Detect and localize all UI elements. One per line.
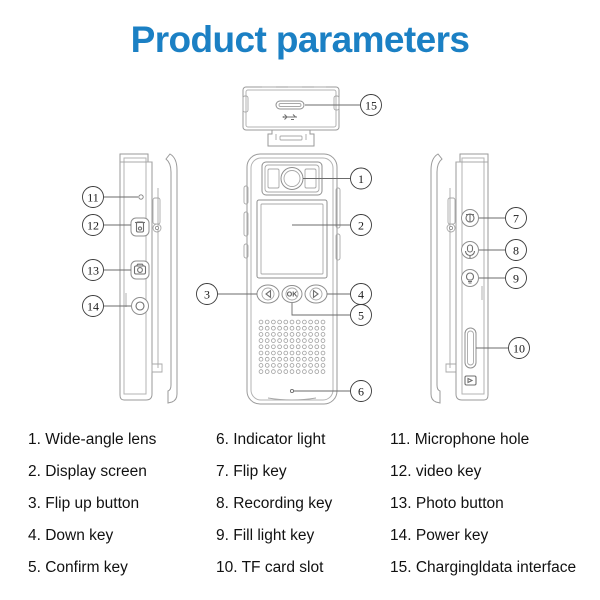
speaker-hole (272, 345, 276, 349)
photo-button[interactable] (131, 261, 149, 279)
speaker-hole (278, 357, 282, 361)
legend-item: 15. Chargingldata interface (390, 552, 600, 584)
speaker-hole (272, 339, 276, 343)
speaker-hole (321, 351, 325, 355)
speaker-hole (290, 357, 294, 361)
confirm-key[interactable]: OK (282, 286, 302, 303)
speaker-hole (259, 370, 263, 374)
belt-clip-right (431, 154, 456, 403)
flip-key[interactable] (462, 210, 479, 227)
video-key[interactable] (131, 218, 149, 236)
down-key[interactable] (305, 285, 327, 303)
speaker-hole (259, 326, 263, 330)
legend-item: 14. Power key (390, 520, 600, 552)
speaker-hole (321, 357, 325, 361)
svg-text:6: 6 (358, 384, 364, 398)
speaker-hole (278, 333, 282, 337)
legend-column-1: 1. Wide-angle lens 2. Display screen 3. … (28, 424, 218, 584)
speaker-hole (303, 351, 307, 355)
speaker-hole (284, 370, 288, 374)
speaker-hole (315, 357, 319, 361)
legend-item: 4. Down key (28, 520, 218, 552)
recording-key[interactable] (462, 242, 479, 259)
belt-clip-left (152, 154, 177, 403)
speaker-hole (259, 364, 263, 368)
fill-light-key[interactable] (462, 270, 479, 287)
svg-text:13: 13 (87, 263, 99, 277)
speaker-hole (272, 357, 276, 361)
speaker-grille (259, 320, 325, 373)
speaker-hole (278, 326, 282, 330)
power-key[interactable] (132, 298, 149, 315)
legend-item: 6. Indicator light (216, 424, 391, 456)
speaker-hole (265, 351, 269, 355)
speaker-hole (259, 320, 263, 324)
speaker-hole (309, 320, 313, 324)
svg-text:15: 15 (365, 98, 377, 112)
speaker-hole (290, 345, 294, 349)
speaker-hole (284, 345, 288, 349)
speaker-hole (309, 345, 313, 349)
display-screen (257, 200, 327, 278)
svg-text:2: 2 (358, 218, 364, 232)
speaker-hole (321, 364, 325, 368)
speaker-hole (284, 339, 288, 343)
speaker-hole (315, 364, 319, 368)
legend-item: 3. Flip up button (28, 488, 218, 520)
speaker-hole (290, 351, 294, 355)
speaker-hole (309, 333, 313, 337)
legend-item: 10. TF card slot (216, 552, 391, 584)
speaker-hole (296, 351, 300, 355)
front-view: OK (244, 154, 340, 404)
svg-text:9: 9 (513, 271, 519, 285)
speaker-hole (309, 364, 313, 368)
svg-text:12: 12 (87, 218, 99, 232)
speaker-hole (265, 320, 269, 324)
speaker-hole (259, 345, 263, 349)
legend-column-3: 11. Microphone hole 12. video key 13. Ph… (390, 424, 600, 584)
speaker-hole (265, 357, 269, 361)
speaker-hole (284, 351, 288, 355)
legend-item: 9. Fill light key (216, 520, 391, 552)
svg-text:3: 3 (204, 287, 210, 301)
speaker-hole (278, 364, 282, 368)
speaker-hole (315, 345, 319, 349)
legend-column-2: 6. Indicator light 7. Flip key 8. Record… (216, 424, 391, 584)
svg-text:OK: OK (287, 292, 298, 299)
speaker-hole (303, 357, 307, 361)
speaker-hole (315, 370, 319, 374)
speaker-hole (303, 320, 307, 324)
indicator-light (290, 389, 293, 392)
svg-text:10: 10 (513, 341, 525, 355)
speaker-hole (315, 351, 319, 355)
speaker-hole (303, 370, 307, 374)
flip-up-button[interactable] (257, 285, 279, 303)
left-side-view (120, 154, 177, 403)
speaker-hole (278, 320, 282, 324)
speaker-hole (290, 326, 294, 330)
speaker-hole (265, 339, 269, 343)
speaker-hole (265, 370, 269, 374)
speaker-hole (315, 333, 319, 337)
speaker-hole (296, 326, 300, 330)
speaker-hole (278, 370, 282, 374)
speaker-hole (265, 345, 269, 349)
speaker-hole (265, 364, 269, 368)
speaker-hole (315, 339, 319, 343)
legend: 1. Wide-angle lens 2. Display screen 3. … (0, 424, 600, 600)
speaker-hole (284, 364, 288, 368)
speaker-hole (321, 326, 325, 330)
speaker-hole (272, 326, 276, 330)
speaker-hole (278, 351, 282, 355)
page-title: Product parameters (0, 18, 600, 62)
speaker-hole (303, 339, 307, 343)
speaker-hole (303, 333, 307, 337)
speaker-hole (265, 326, 269, 330)
speaker-hole (296, 333, 300, 337)
speaker-hole (259, 357, 263, 361)
speaker-hole (321, 345, 325, 349)
legend-item: 8. Recording key (216, 488, 391, 520)
legend-item: 2. Display screen (28, 456, 218, 488)
speaker-hole (309, 370, 313, 374)
speaker-hole (259, 339, 263, 343)
tf-card-slot[interactable] (465, 328, 476, 368)
speaker-hole (321, 333, 325, 337)
svg-text:5: 5 (358, 308, 364, 322)
speaker-hole (321, 320, 325, 324)
speaker-hole (309, 326, 313, 330)
speaker-hole (278, 345, 282, 349)
speaker-hole (296, 345, 300, 349)
speaker-hole (303, 364, 307, 368)
speaker-hole (296, 357, 300, 361)
speaker-hole (272, 320, 276, 324)
speaker-hole (272, 364, 276, 368)
legend-item: 7. Flip key (216, 456, 391, 488)
speaker-hole (290, 333, 294, 337)
legend-item: 5. Confirm key (28, 552, 218, 584)
microphone-hole-dot (139, 195, 143, 199)
speaker-hole (309, 351, 313, 355)
product-diagram: .out { fill:#ffffff; stroke:#9a9a9a; str… (0, 78, 600, 418)
speaker-hole (278, 339, 282, 343)
legend-item: 1. Wide-angle lens (28, 424, 218, 456)
speaker-hole (321, 370, 325, 374)
speaker-hole (259, 333, 263, 337)
speaker-hole (315, 320, 319, 324)
speaker-hole (296, 364, 300, 368)
speaker-hole (284, 333, 288, 337)
speaker-hole (303, 326, 307, 330)
right-side-view (431, 154, 488, 403)
legend-item: 12. video key (390, 456, 600, 488)
speaker-hole (296, 339, 300, 343)
speaker-hole (272, 351, 276, 355)
speaker-hole (303, 345, 307, 349)
svg-text:7: 7 (513, 211, 519, 225)
legend-item: 11. Microphone hole (390, 424, 600, 456)
speaker-hole (284, 320, 288, 324)
svg-text:4: 4 (358, 287, 364, 301)
top-view (243, 87, 339, 146)
speaker-hole (315, 326, 319, 330)
speaker-hole (290, 339, 294, 343)
speaker-hole (290, 370, 294, 374)
speaker-hole (272, 333, 276, 337)
svg-text:1: 1 (358, 172, 364, 186)
svg-text:11: 11 (87, 190, 99, 204)
speaker-hole (284, 357, 288, 361)
legend-item: 13. Photo button (390, 488, 600, 520)
svg-text:8: 8 (513, 243, 519, 257)
speaker-hole (296, 320, 300, 324)
speaker-hole (272, 370, 276, 374)
speaker-hole (296, 370, 300, 374)
svg-text:14: 14 (87, 299, 99, 313)
speaker-hole (309, 357, 313, 361)
speaker-hole (309, 339, 313, 343)
speaker-hole (321, 339, 325, 343)
speaker-hole (284, 326, 288, 330)
speaker-hole (265, 333, 269, 337)
speaker-hole (290, 364, 294, 368)
speaker-hole (259, 351, 263, 355)
speaker-hole (290, 320, 294, 324)
